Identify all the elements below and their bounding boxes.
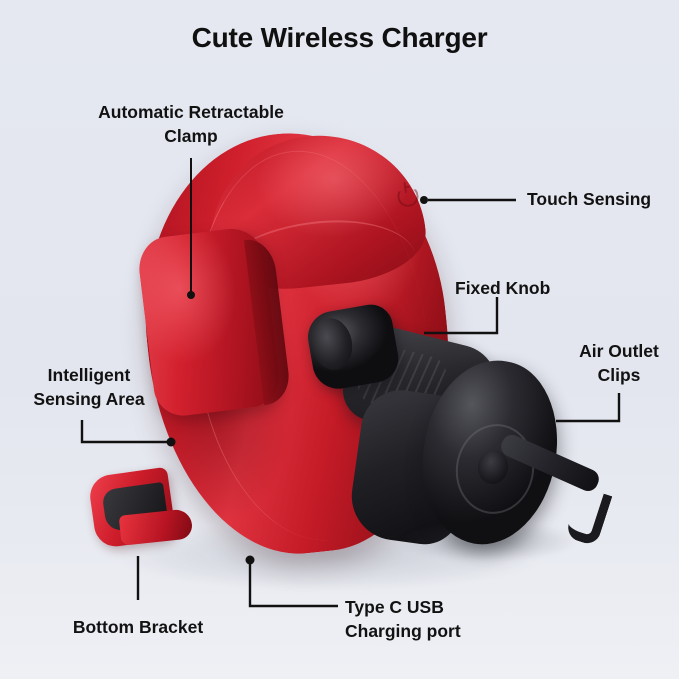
callout-label-touch-sensing: Touch Sensing: [527, 188, 677, 212]
page-title: Cute Wireless Charger: [0, 22, 679, 54]
callout-label-intelligent-sensing-area: Intelligent Sensing Area: [14, 364, 164, 411]
callout-label-air-outlet-clips: Air Outlet Clips: [561, 340, 677, 387]
callout-label-fixed-knob: Fixed Knob: [455, 277, 585, 301]
power-icon: [395, 181, 418, 206]
callout-label-bottom-bracket: Bottom Bracket: [58, 616, 218, 640]
callout-label-automatic-retractable-clamp: Automatic Retractable Clamp: [96, 101, 286, 148]
product-diagram: Cute Wireless Charger Automatic Retracta…: [0, 0, 679, 679]
callout-label-type-c-usb-charging-port: Type C USB Charging port: [345, 596, 525, 643]
air-outlet-hook-tip: [565, 486, 613, 547]
